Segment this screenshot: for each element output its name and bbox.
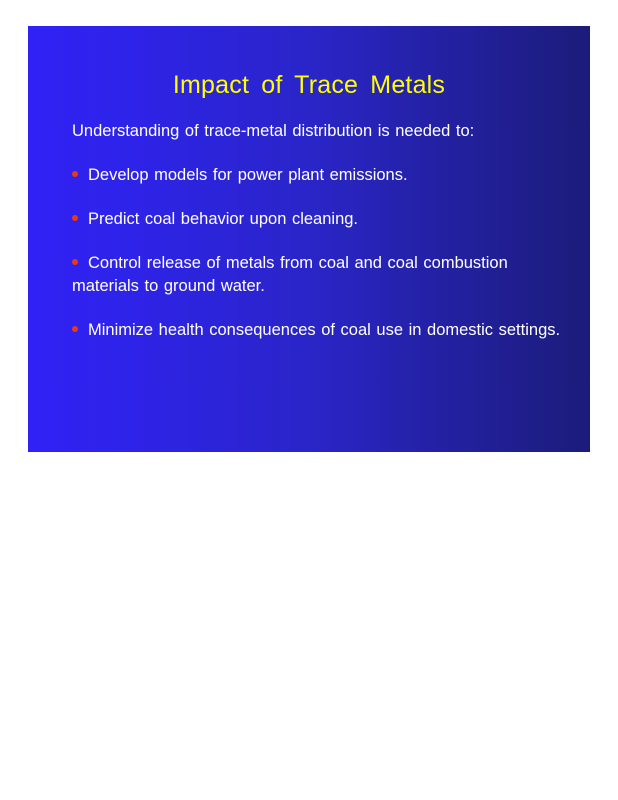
presentation-slide: Impact of Trace Metals Understanding of … [28,26,590,452]
list-item-label: Predict coal behavior upon cleaning. [88,210,358,228]
list-item: Minimize health consequences of coal use… [72,319,562,342]
bullet-dot-icon [72,259,78,265]
bullet-dot-icon [72,326,78,332]
list-item: Control release of metals from coal and … [72,252,562,298]
slide-body: Understanding of trace-metal distributio… [72,120,562,342]
slide-canvas: Impact of Trace Metals Understanding of … [0,0,618,800]
list-item: Develop models for power plant emissions… [72,164,562,187]
bullet-list: Develop models for power plant emissions… [72,164,562,342]
slide-title: Impact of Trace Metals [28,72,590,100]
list-item-label: Control release of metals from coal and … [72,254,508,295]
list-item-label: Minimize health consequences of coal use… [88,321,560,339]
bullet-dot-icon [72,171,78,177]
list-item-label: Develop models for power plant emissions… [88,166,408,184]
intro-paragraph: Understanding of trace-metal distributio… [72,120,502,143]
bullet-dot-icon [72,215,78,221]
list-item: Predict coal behavior upon cleaning. [72,208,562,231]
